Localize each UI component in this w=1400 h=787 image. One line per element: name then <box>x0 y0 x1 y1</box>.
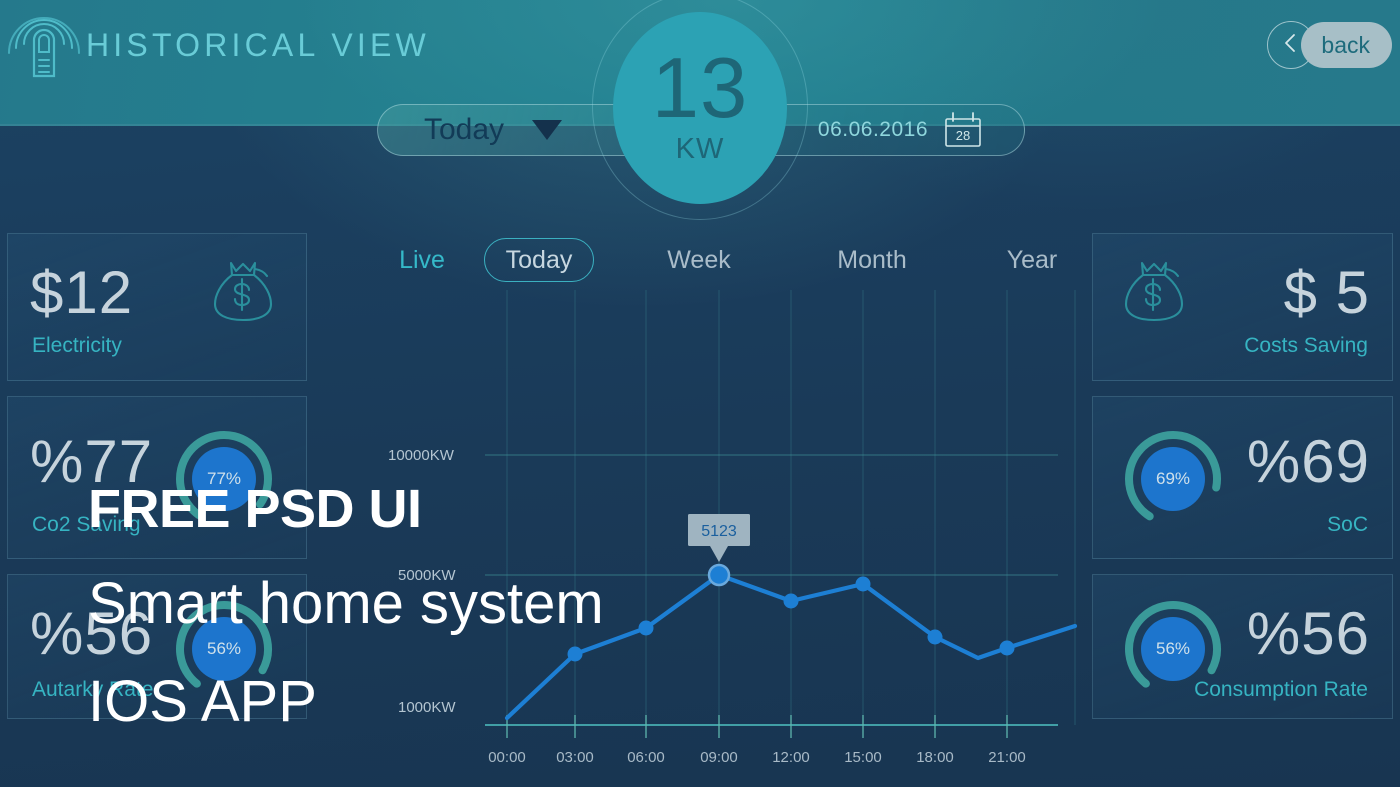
gauge-soc: 69% <box>1121 427 1225 531</box>
y-tick-label: 5000KW <box>398 567 456 584</box>
card-value: $12 <box>30 258 133 327</box>
data-point[interactable] <box>568 647 583 662</box>
card-autarky-rate[interactable]: %56 Autarky Rate 56% <box>7 574 307 719</box>
tab-today[interactable]: Today <box>484 238 594 282</box>
back-button-label: back <box>1321 32 1370 59</box>
money-bag-icon <box>212 258 274 324</box>
data-point-selected[interactable] <box>709 565 729 585</box>
chevron-left-icon <box>1283 32 1299 59</box>
range-dropdown[interactable]: Today <box>378 113 562 147</box>
gauge-autarky-rate: 56% <box>172 597 276 701</box>
card-co2-saving[interactable]: %77 Co2 Saving 77% <box>7 396 307 559</box>
data-point[interactable] <box>639 621 654 636</box>
chart-vertical-gridlines <box>507 290 1075 725</box>
time-range-tabs: Live Today Week Month Year <box>372 238 1072 282</box>
tab-today-label: Today <box>506 246 573 275</box>
card-label: Costs Saving <box>1244 334 1368 358</box>
card-costs-saving[interactable]: $ 5 Costs Saving <box>1092 233 1393 381</box>
back-button[interactable]: back <box>1301 22 1392 68</box>
chart-tooltip: 5123 <box>688 514 750 562</box>
x-tick-label: 03:00 <box>556 749 594 766</box>
card-electricity[interactable]: $12 Electricity <box>7 233 307 381</box>
card-value: $ 5 <box>1284 258 1370 327</box>
meter-value: 13 <box>652 50 749 128</box>
meter-unit: KW <box>676 133 725 166</box>
card-label: SoC <box>1327 513 1368 537</box>
smart-home-signal-icon <box>8 10 80 86</box>
data-point[interactable] <box>928 630 943 645</box>
date-picker[interactable]: 06.06.2016 28 <box>818 112 1024 148</box>
x-tick-label: 00:00 <box>488 749 526 766</box>
x-tick-label: 09:00 <box>700 749 738 766</box>
range-dropdown-label: Today <box>424 113 504 147</box>
card-soc[interactable]: %69 SoC 69% <box>1092 396 1393 559</box>
x-tick-label: 15:00 <box>844 749 882 766</box>
data-point[interactable] <box>784 594 799 609</box>
card-value: %69 <box>1247 427 1370 496</box>
card-label: Co2 Saving <box>32 513 141 537</box>
y-tick-label: 1000KW <box>398 699 456 716</box>
card-consumption-rate[interactable]: %56 Consumption Rate 56% <box>1092 574 1393 719</box>
tab-month[interactable]: Month <box>812 238 932 282</box>
data-point[interactable] <box>856 577 871 592</box>
gauge-value: 69% <box>1141 447 1205 511</box>
tab-month-label: Month <box>837 246 906 275</box>
historical-view-screen: HISTORICAL VIEW back Today 06.06.2016 <box>0 0 1400 787</box>
gauge-value: 77% <box>192 447 256 511</box>
gauge-value: 56% <box>1141 617 1205 681</box>
gauge-value: 56% <box>192 617 256 681</box>
card-value: %56 <box>1247 599 1370 668</box>
tab-live-label: Live <box>399 246 445 275</box>
tab-year[interactable]: Year <box>986 238 1078 282</box>
calendar-icon: 28 <box>944 112 982 148</box>
chart-horizontal-gridlines <box>485 455 1058 575</box>
x-tick-label: 18:00 <box>916 749 954 766</box>
calendar-day: 28 <box>956 128 970 143</box>
money-bag-icon <box>1123 258 1185 324</box>
energy-line-chart[interactable]: 10000KW 5000KW 1000KW 00:00 03:00 <box>330 286 1090 786</box>
card-value: %77 <box>30 427 153 496</box>
tab-year-label: Year <box>1007 246 1058 275</box>
chart-y-axis-labels: 10000KW 5000KW 1000KW <box>388 447 456 716</box>
tab-week-label: Week <box>667 246 730 275</box>
card-value: %56 <box>30 599 153 668</box>
chevron-down-icon <box>532 120 562 140</box>
card-label: Electricity <box>32 334 122 358</box>
chart-tooltip-value: 5123 <box>701 523 737 540</box>
tab-week[interactable]: Week <box>644 238 754 282</box>
data-point[interactable] <box>1000 641 1015 656</box>
gauge-co2-saving: 77% <box>172 427 276 531</box>
tab-live[interactable]: Live <box>382 238 462 282</box>
page-title: HISTORICAL VIEW <box>86 27 430 64</box>
card-label: Autarky Rate <box>32 678 153 702</box>
current-power-meter[interactable]: 13 KW <box>613 12 787 204</box>
x-tick-label: 12:00 <box>772 749 810 766</box>
chart-x-axis-labels: 00:00 03:00 06:00 09:00 12:00 15:00 18:0… <box>488 749 1026 766</box>
gauge-consumption-rate: 56% <box>1121 597 1225 701</box>
x-tick-label: 06:00 <box>627 749 665 766</box>
x-tick-label: 21:00 <box>988 749 1026 766</box>
date-value: 06.06.2016 <box>818 118 928 142</box>
chart-x-ticks <box>507 715 1007 738</box>
y-tick-label: 10000KW <box>388 447 455 464</box>
